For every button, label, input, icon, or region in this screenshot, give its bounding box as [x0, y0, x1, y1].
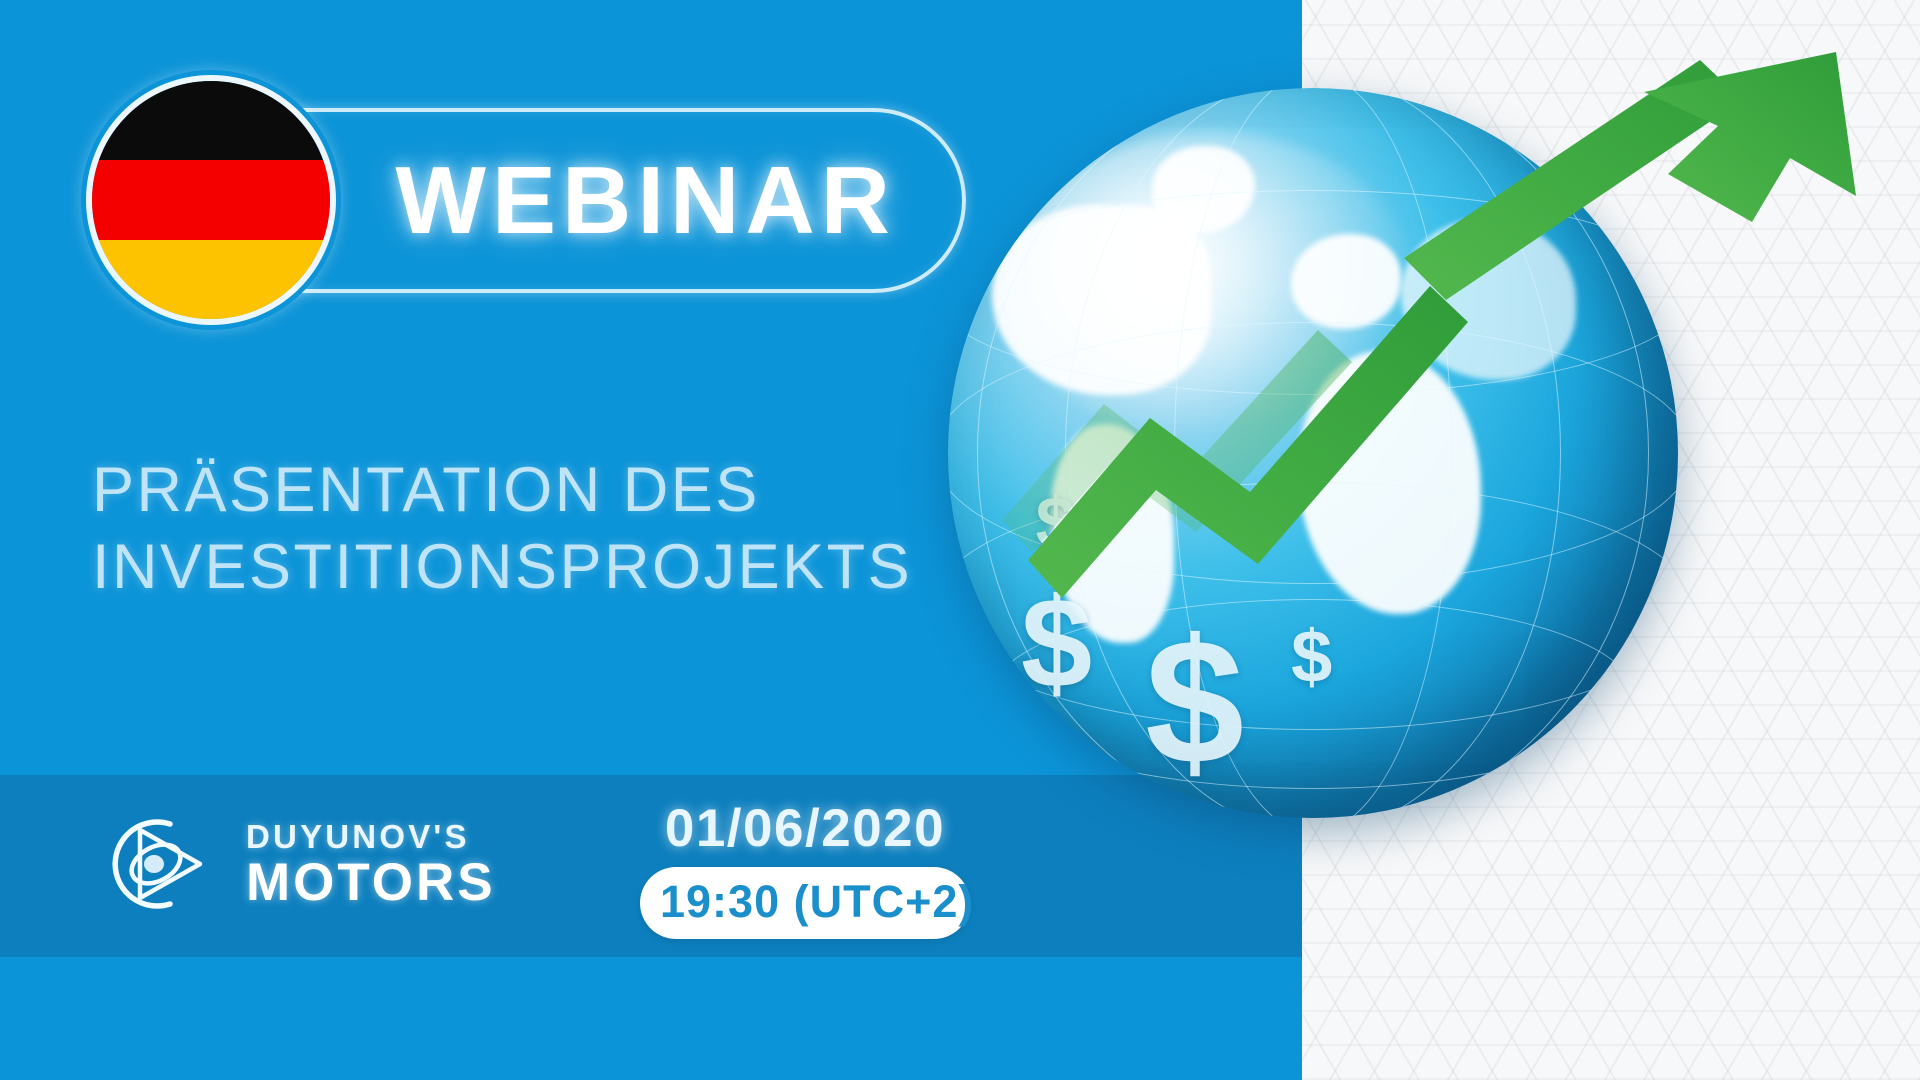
brand-logo: DUYUNOV'S MOTORS: [96, 800, 496, 928]
germany-flag-icon: [86, 75, 336, 325]
webinar-banner: WEBINAR PRÄSENTATION DES INVESTITIONSPRO…: [0, 0, 1920, 1080]
subtitle-line-1: PRÄSENTATION DES: [92, 452, 1072, 529]
dollar-sign-icon: $: [1036, 482, 1076, 564]
event-date: 01/06/2020: [640, 798, 970, 859]
brand-name-line-2: MOTORS: [246, 856, 496, 909]
globe-graphic: $ $ $ $: [930, 60, 1720, 850]
dollar-sign-icon: $: [1291, 614, 1332, 699]
flag-stripe-red: [92, 160, 330, 239]
event-time: 19:30 (UTC+2): [660, 876, 974, 927]
brand-name-line-1: DUYUNOV'S: [246, 820, 496, 853]
event-time-badge: 19:30 (UTC+2): [640, 867, 970, 939]
earth-globe-icon: $ $ $ $: [948, 88, 1678, 818]
dollar-sign-icon: $: [1021, 570, 1092, 717]
event-datetime: 01/06/2020 19:30 (UTC+2): [640, 798, 970, 939]
brand-logo-text: DUYUNOV'S MOTORS: [246, 820, 496, 909]
duyunov-motors-logo-icon: [96, 800, 224, 928]
webinar-label: WEBINAR: [395, 153, 896, 249]
subtitle-block: PRÄSENTATION DES INVESTITIONSPROJEKTS: [92, 452, 1072, 606]
flag-stripe-black: [92, 81, 330, 160]
subtitle-line-2: INVESTITIONSPROJEKTS: [92, 529, 1072, 606]
dollar-sign-icon: $: [1145, 599, 1244, 804]
flag-stripe-gold: [92, 240, 330, 319]
